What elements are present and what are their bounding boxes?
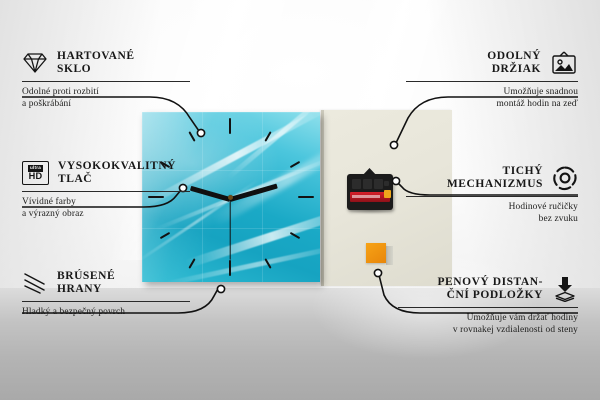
connector-node-right-3 <box>374 269 381 276</box>
polished-edges-icon <box>22 272 48 294</box>
feature-divider <box>22 301 190 302</box>
feature-header: ultra HD VYSOKOKVALITNÝ TLAČ <box>22 160 190 186</box>
wall-hanger-icon <box>550 51 578 75</box>
feature-header: BRÚSENÉ HRANY <box>22 270 190 296</box>
feature-title-line: MECHANIZMUS <box>447 178 543 191</box>
feature-silent-mechanism: TICHÝ MECHANIZMUS Hodinové ručičky bez z… <box>406 165 578 226</box>
feature-divider <box>406 81 578 82</box>
feature-divider <box>406 196 578 197</box>
feature-divider <box>398 307 578 308</box>
feature-foam-spacers: PENOVÝ DISTAN- ČNÍ PODLOŽKY Umožňuje vám… <box>398 276 578 337</box>
feature-title: PENOVÝ DISTAN- ČNÍ PODLOŽKY <box>437 276 543 302</box>
feature-title-line: TICHÝ <box>503 165 543 178</box>
feature-description: Hodinové ručičky bez zvuku <box>406 201 578 226</box>
feature-header: PENOVÝ DISTAN- ČNÍ PODLOŽKY <box>398 276 578 302</box>
connector-node-left-1 <box>197 129 204 136</box>
feature-title-line: BRÚSENÉ <box>57 270 115 283</box>
connector-node-right-2 <box>392 177 399 184</box>
feature-polished-edges: BRÚSENÉ HRANY Hladký a bezpečný povrch <box>22 270 190 318</box>
feature-header: ODOLNÝ DRŽIAK <box>406 50 578 76</box>
feature-title-line: ČNÍ PODLOŽKY <box>447 289 543 302</box>
ultra-hd-icon: ultra HD <box>22 161 49 185</box>
feature-title: TICHÝ MECHANIZMUS <box>447 165 543 191</box>
feature-title-line: DRŽIAK <box>492 63 541 76</box>
feature-title-line: TLAČ <box>58 173 176 186</box>
feature-description: Umožňuje vám držať hodiny v rovnakej vzd… <box>398 312 578 337</box>
gear-icon <box>552 165 578 191</box>
feature-divider <box>22 81 190 82</box>
feature-title-line: HRANY <box>57 283 115 296</box>
feature-description: Umožňuje snadnou montáž hodin na zeď <box>406 86 578 111</box>
feature-title: HARTOVANÉ SKLO <box>57 50 135 76</box>
feature-title: BRÚSENÉ HRANY <box>57 270 115 296</box>
infographic-canvas: HARTOVANÉ SKLO Odolné proti rozbití a po… <box>0 0 600 400</box>
connector-node-right-1 <box>390 141 397 148</box>
feature-title-line: PENOVÝ DISTAN- <box>437 276 543 289</box>
diamond-icon <box>22 52 48 74</box>
feature-divider <box>22 191 190 192</box>
connector-node-left-3 <box>217 285 224 292</box>
feature-title: ODOLNÝ DRŽIAK <box>487 50 541 76</box>
feature-title-line: VYSOKOKVALITNÝ <box>58 160 176 173</box>
feature-description: Vívidné farby a výrazný obraz <box>22 196 190 221</box>
feature-tempered-glass: HARTOVANÉ SKLO Odolné proti rozbití a po… <box>22 50 190 111</box>
feature-title: VYSOKOKVALITNÝ TLAČ <box>58 160 176 186</box>
feature-header: HARTOVANÉ SKLO <box>22 50 190 76</box>
feature-title-line: HARTOVANÉ <box>57 50 135 63</box>
feature-header: TICHÝ MECHANIZMUS <box>406 165 578 191</box>
feature-title-line: SKLO <box>57 63 135 76</box>
feature-description: Hladký a bezpečný povrch <box>22 306 190 318</box>
feature-high-quality-print: ultra HD VYSOKOKVALITNÝ TLAČ Vívidné far… <box>22 160 190 221</box>
feature-title-line: ODOLNÝ <box>487 50 541 63</box>
feature-description: Odolné proti rozbití a poškrábání <box>22 86 190 111</box>
feature-durable-hanger: ODOLNÝ DRŽIAK Umožňuje snadnou montáž ho… <box>406 50 578 111</box>
ultra-hd-icon-large-text: HD <box>29 172 43 181</box>
foam-layers-icon <box>552 276 578 302</box>
